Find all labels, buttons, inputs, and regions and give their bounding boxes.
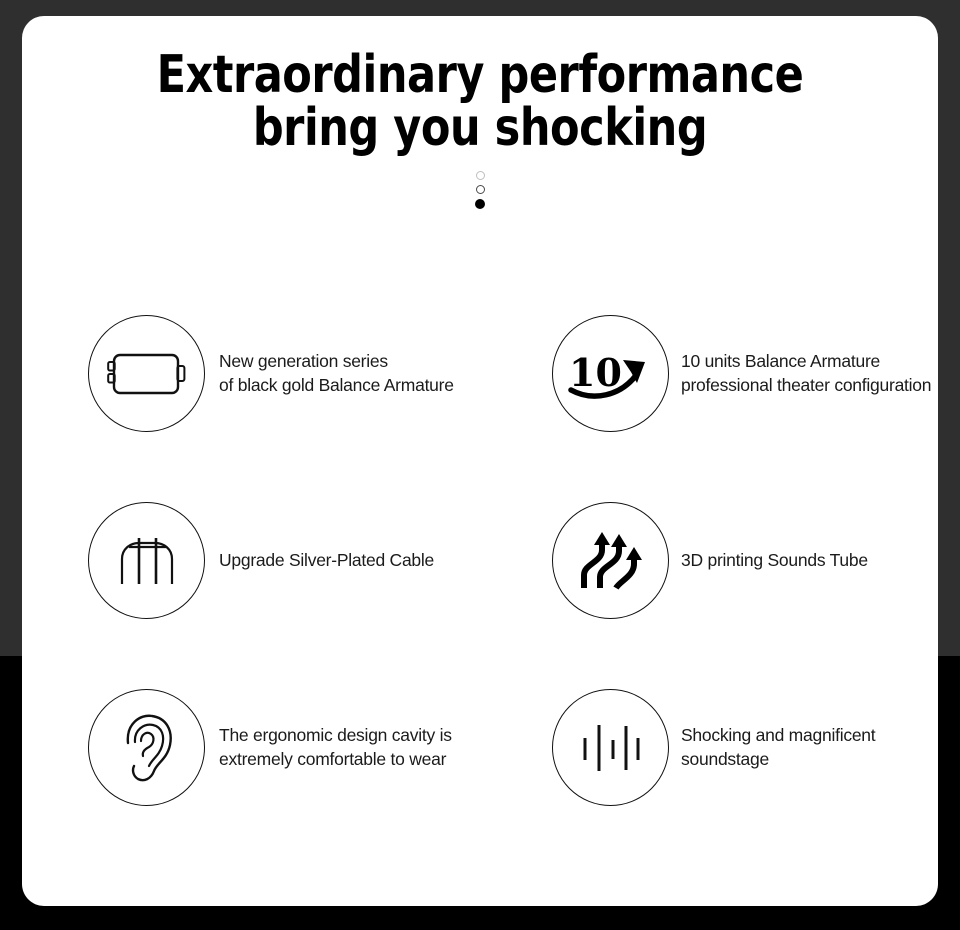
feature-item: 3D printing Sounds Tube: [468, 467, 938, 654]
feature-label: New generation series of black gold Bala…: [219, 350, 454, 397]
feature-label: Upgrade Silver-Plated Cable: [219, 549, 434, 572]
page-title: Extraordinary performance bring you shoc…: [59, 16, 902, 155]
ten-units-arrow-icon: 10: [552, 315, 669, 432]
feature-item: 10 10 units Balance Armature professiona…: [468, 280, 938, 467]
page-title-line-1: Extraordinary performance: [59, 49, 902, 102]
dot-outline-dark-icon: [476, 185, 485, 194]
feature-grid: New generation series of black gold Bala…: [22, 280, 938, 841]
feature-item: Upgrade Silver-Plated Cable: [22, 467, 468, 654]
balance-armature-driver-icon: [88, 315, 205, 432]
page-title-line-2: bring you shocking: [59, 102, 902, 155]
feature-label: The ergonomic design cavity is extremely…: [219, 724, 452, 771]
dot-outline-light-icon: [476, 171, 485, 180]
decorative-dots: [473, 155, 487, 209]
svg-text:10: 10: [569, 350, 622, 395]
ear-icon: [88, 689, 205, 806]
feature-label: 10 units Balance Armature professional t…: [681, 350, 931, 397]
feature-card: Extraordinary performance bring you shoc…: [22, 16, 938, 906]
feature-item: Shocking and magnificent soundstage: [468, 654, 938, 841]
soundwave-bars-icon: [552, 689, 669, 806]
silver-plated-cable-icon: [88, 502, 205, 619]
feature-item: The ergonomic design cavity is extremely…: [22, 654, 468, 841]
feature-label: Shocking and magnificent soundstage: [681, 724, 875, 771]
airflow-arrows-icon: [552, 502, 669, 619]
dot-filled-icon: [475, 199, 485, 209]
page-root: Extraordinary performance bring you shoc…: [0, 0, 960, 930]
feature-label: 3D printing Sounds Tube: [681, 549, 868, 572]
feature-item: New generation series of black gold Bala…: [22, 280, 468, 467]
